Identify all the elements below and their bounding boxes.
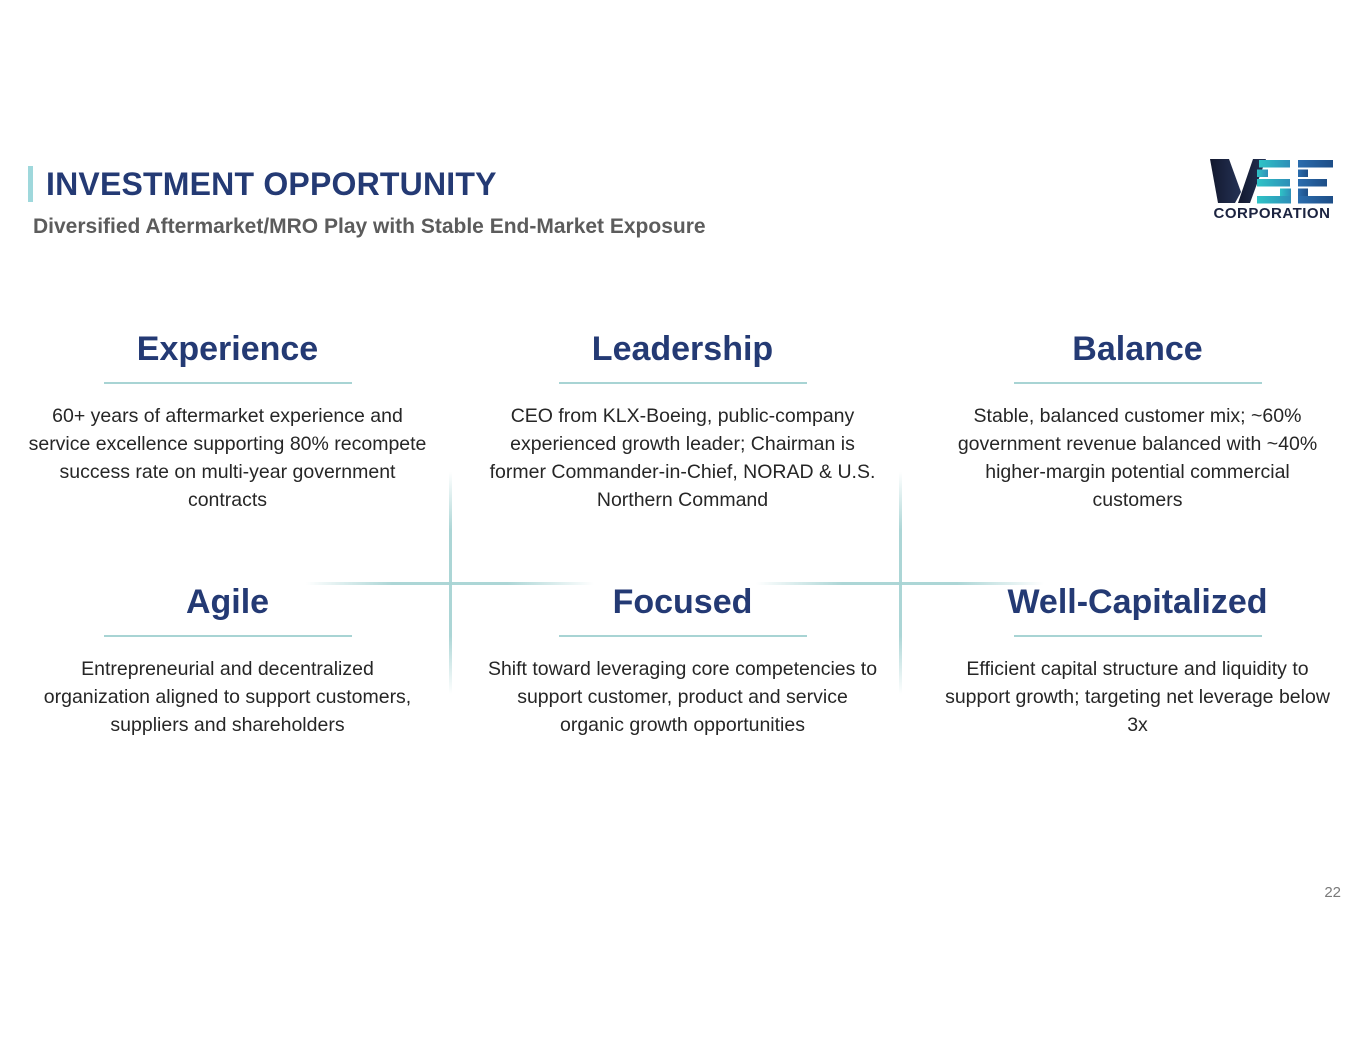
svg-text:CORPORATION: CORPORATION <box>1214 205 1331 222</box>
title-row: INVESTMENT OPPORTUNITY <box>28 166 497 202</box>
title-accent-bar-icon <box>28 166 33 202</box>
pillars-row-bottom: Agile Entrepreneurial and decentralized … <box>0 583 1365 813</box>
pillars-grid: Experience 60+ years of aftermarket expe… <box>0 330 1365 813</box>
pillar-body: CEO from KLX-Boeing, public-company expe… <box>483 403 882 515</box>
page-title: INVESTMENT OPPORTUNITY <box>46 168 497 200</box>
pillar-underline <box>1014 635 1262 637</box>
pillar-body: Efficient capital structure and liquidit… <box>938 656 1337 740</box>
page-subtitle: Diversified Aftermarket/MRO Play with St… <box>33 215 706 239</box>
pillar-underline <box>104 382 352 384</box>
pillar-underline <box>559 635 807 637</box>
pillar-body: Stable, balanced customer mix; ~60% gove… <box>938 403 1337 515</box>
slide-canvas: INVESTMENT OPPORTUNITY Diversified After… <box>0 0 1365 1055</box>
pillar-heading: Agile <box>28 583 427 621</box>
pillar-heading: Well-Capitalized <box>938 583 1337 621</box>
pillar-leadership: Leadership CEO from KLX-Boeing, public-c… <box>455 330 910 583</box>
pillar-balance: Balance Stable, balanced customer mix; ~… <box>910 330 1365 583</box>
pillar-underline <box>104 635 352 637</box>
pillar-experience: Experience 60+ years of aftermarket expe… <box>0 330 455 583</box>
pillar-heading: Experience <box>28 330 427 368</box>
pillar-body: Entrepreneurial and decentralized organi… <box>28 656 427 740</box>
pillar-body: Shift toward leveraging core competencie… <box>483 656 882 740</box>
vse-corporation-logo: CORPORATION <box>1207 155 1337 223</box>
page-number: 22 <box>1324 884 1341 901</box>
pillar-heading: Balance <box>938 330 1337 368</box>
pillar-body: 60+ years of aftermarket experience and … <box>28 403 427 515</box>
pillar-underline <box>559 382 807 384</box>
pillar-heading: Leadership <box>483 330 882 368</box>
pillar-underline <box>1014 382 1262 384</box>
pillar-focused: Focused Shift toward leveraging core com… <box>455 583 910 813</box>
pillars-row-top: Experience 60+ years of aftermarket expe… <box>0 330 1365 583</box>
pillar-heading: Focused <box>483 583 882 621</box>
pillar-well-capitalized: Well-Capitalized Efficient capital struc… <box>910 583 1365 813</box>
pillar-agile: Agile Entrepreneurial and decentralized … <box>0 583 455 813</box>
